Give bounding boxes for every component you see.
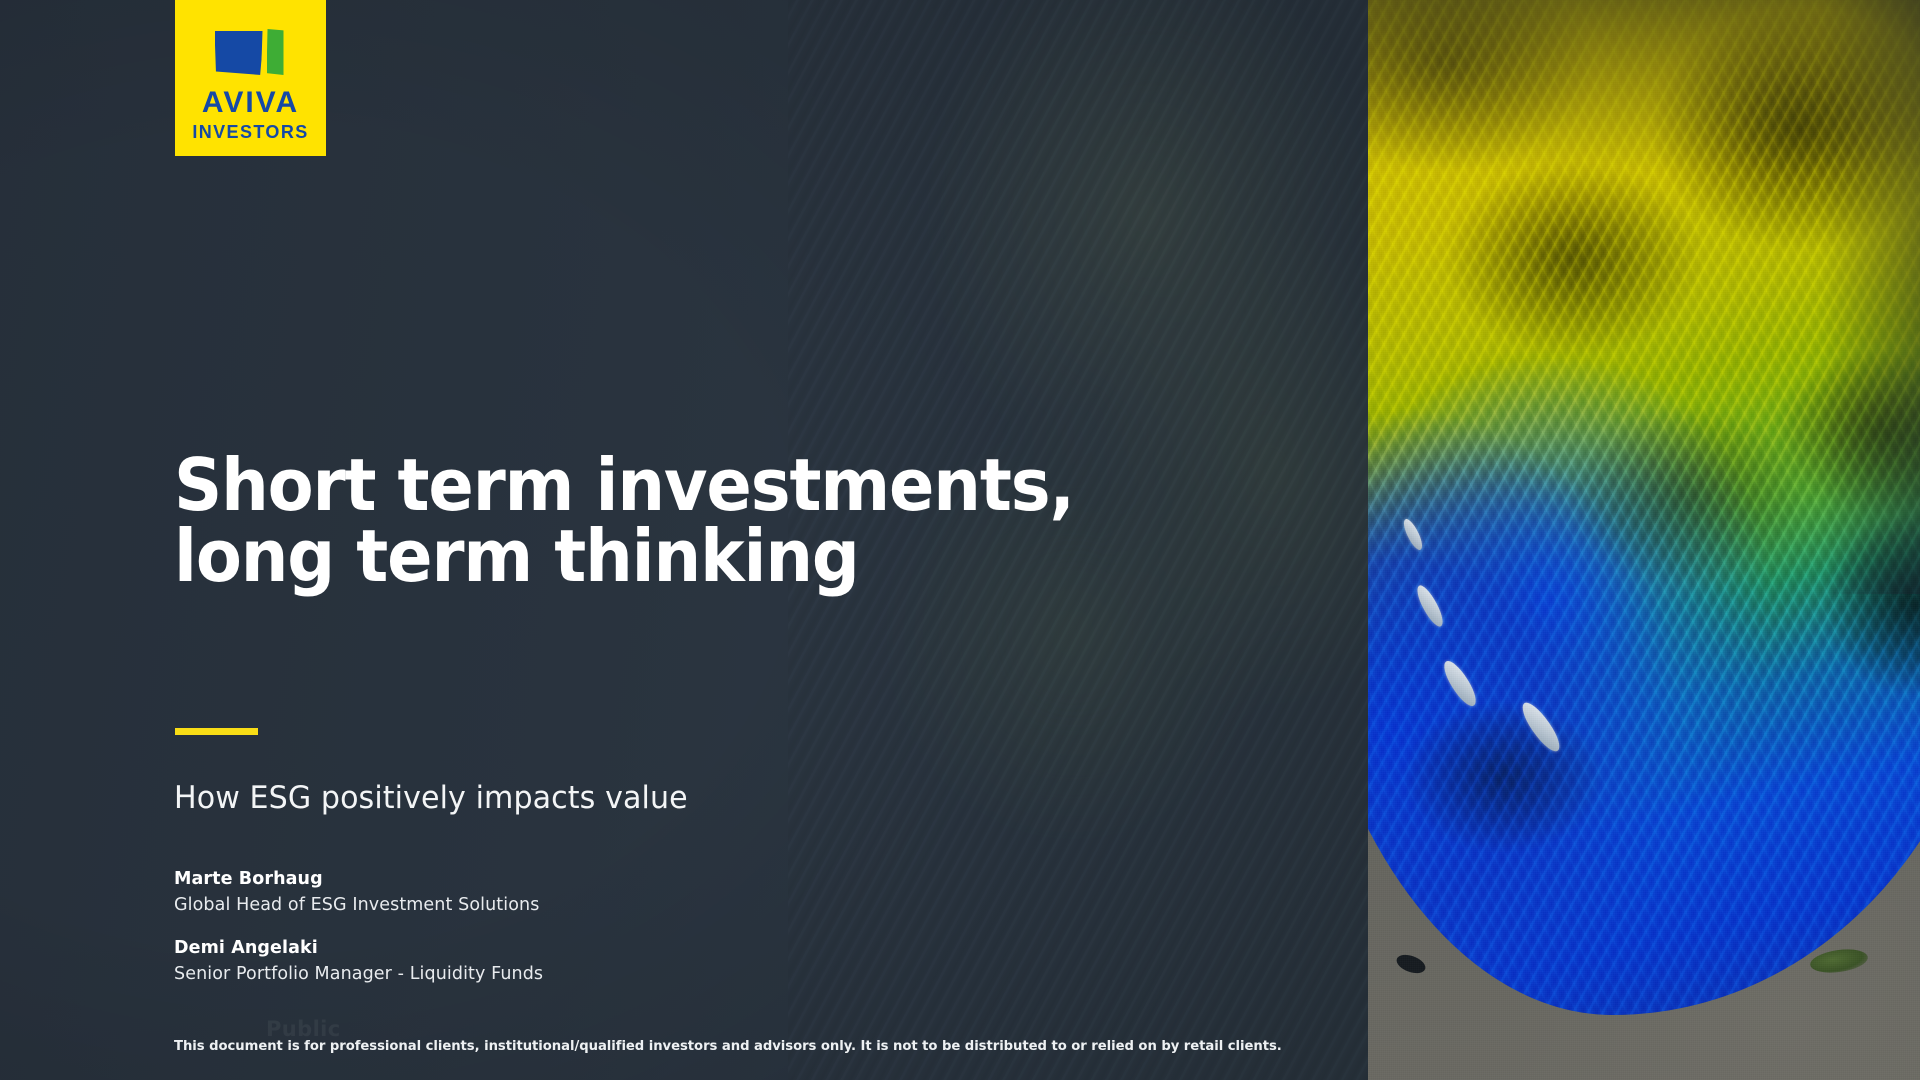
photo-right-fade — [1821, 0, 1920, 594]
title-slide: AVIVA INVESTORS Short term investments, … — [0, 0, 1920, 1080]
presenter-item: Marte Borhaug Global Head of ESG Investm… — [174, 866, 543, 919]
public-watermark: Public — [266, 1017, 341, 1041]
presenter-list: Marte Borhaug Global Head of ESG Investm… — [174, 866, 543, 1003]
presenter-item: Demi Angelaki Senior Portfolio Manager -… — [174, 935, 543, 988]
fish-school-photo — [1368, 0, 1920, 1080]
presenter-role: Global Head of ESG Investment Solutions — [174, 892, 543, 918]
legal-disclaimer: This document is for professional client… — [174, 1039, 1282, 1054]
page-subtitle: How ESG positively impacts value — [174, 780, 688, 816]
presenter-name: Demi Angelaki — [174, 935, 543, 961]
accent-rule — [175, 728, 258, 735]
page-title-line-2: long term thinking — [174, 521, 1188, 592]
slide-content: Short term investments, long term thinki… — [174, 0, 1264, 1080]
presenter-role: Senior Portfolio Manager - Liquidity Fun… — [174, 961, 543, 987]
page-title-line-1: Short term investments, — [174, 450, 1188, 521]
presenter-name: Marte Borhaug — [174, 866, 543, 892]
page-title: Short term investments, long term thinki… — [174, 450, 1188, 593]
